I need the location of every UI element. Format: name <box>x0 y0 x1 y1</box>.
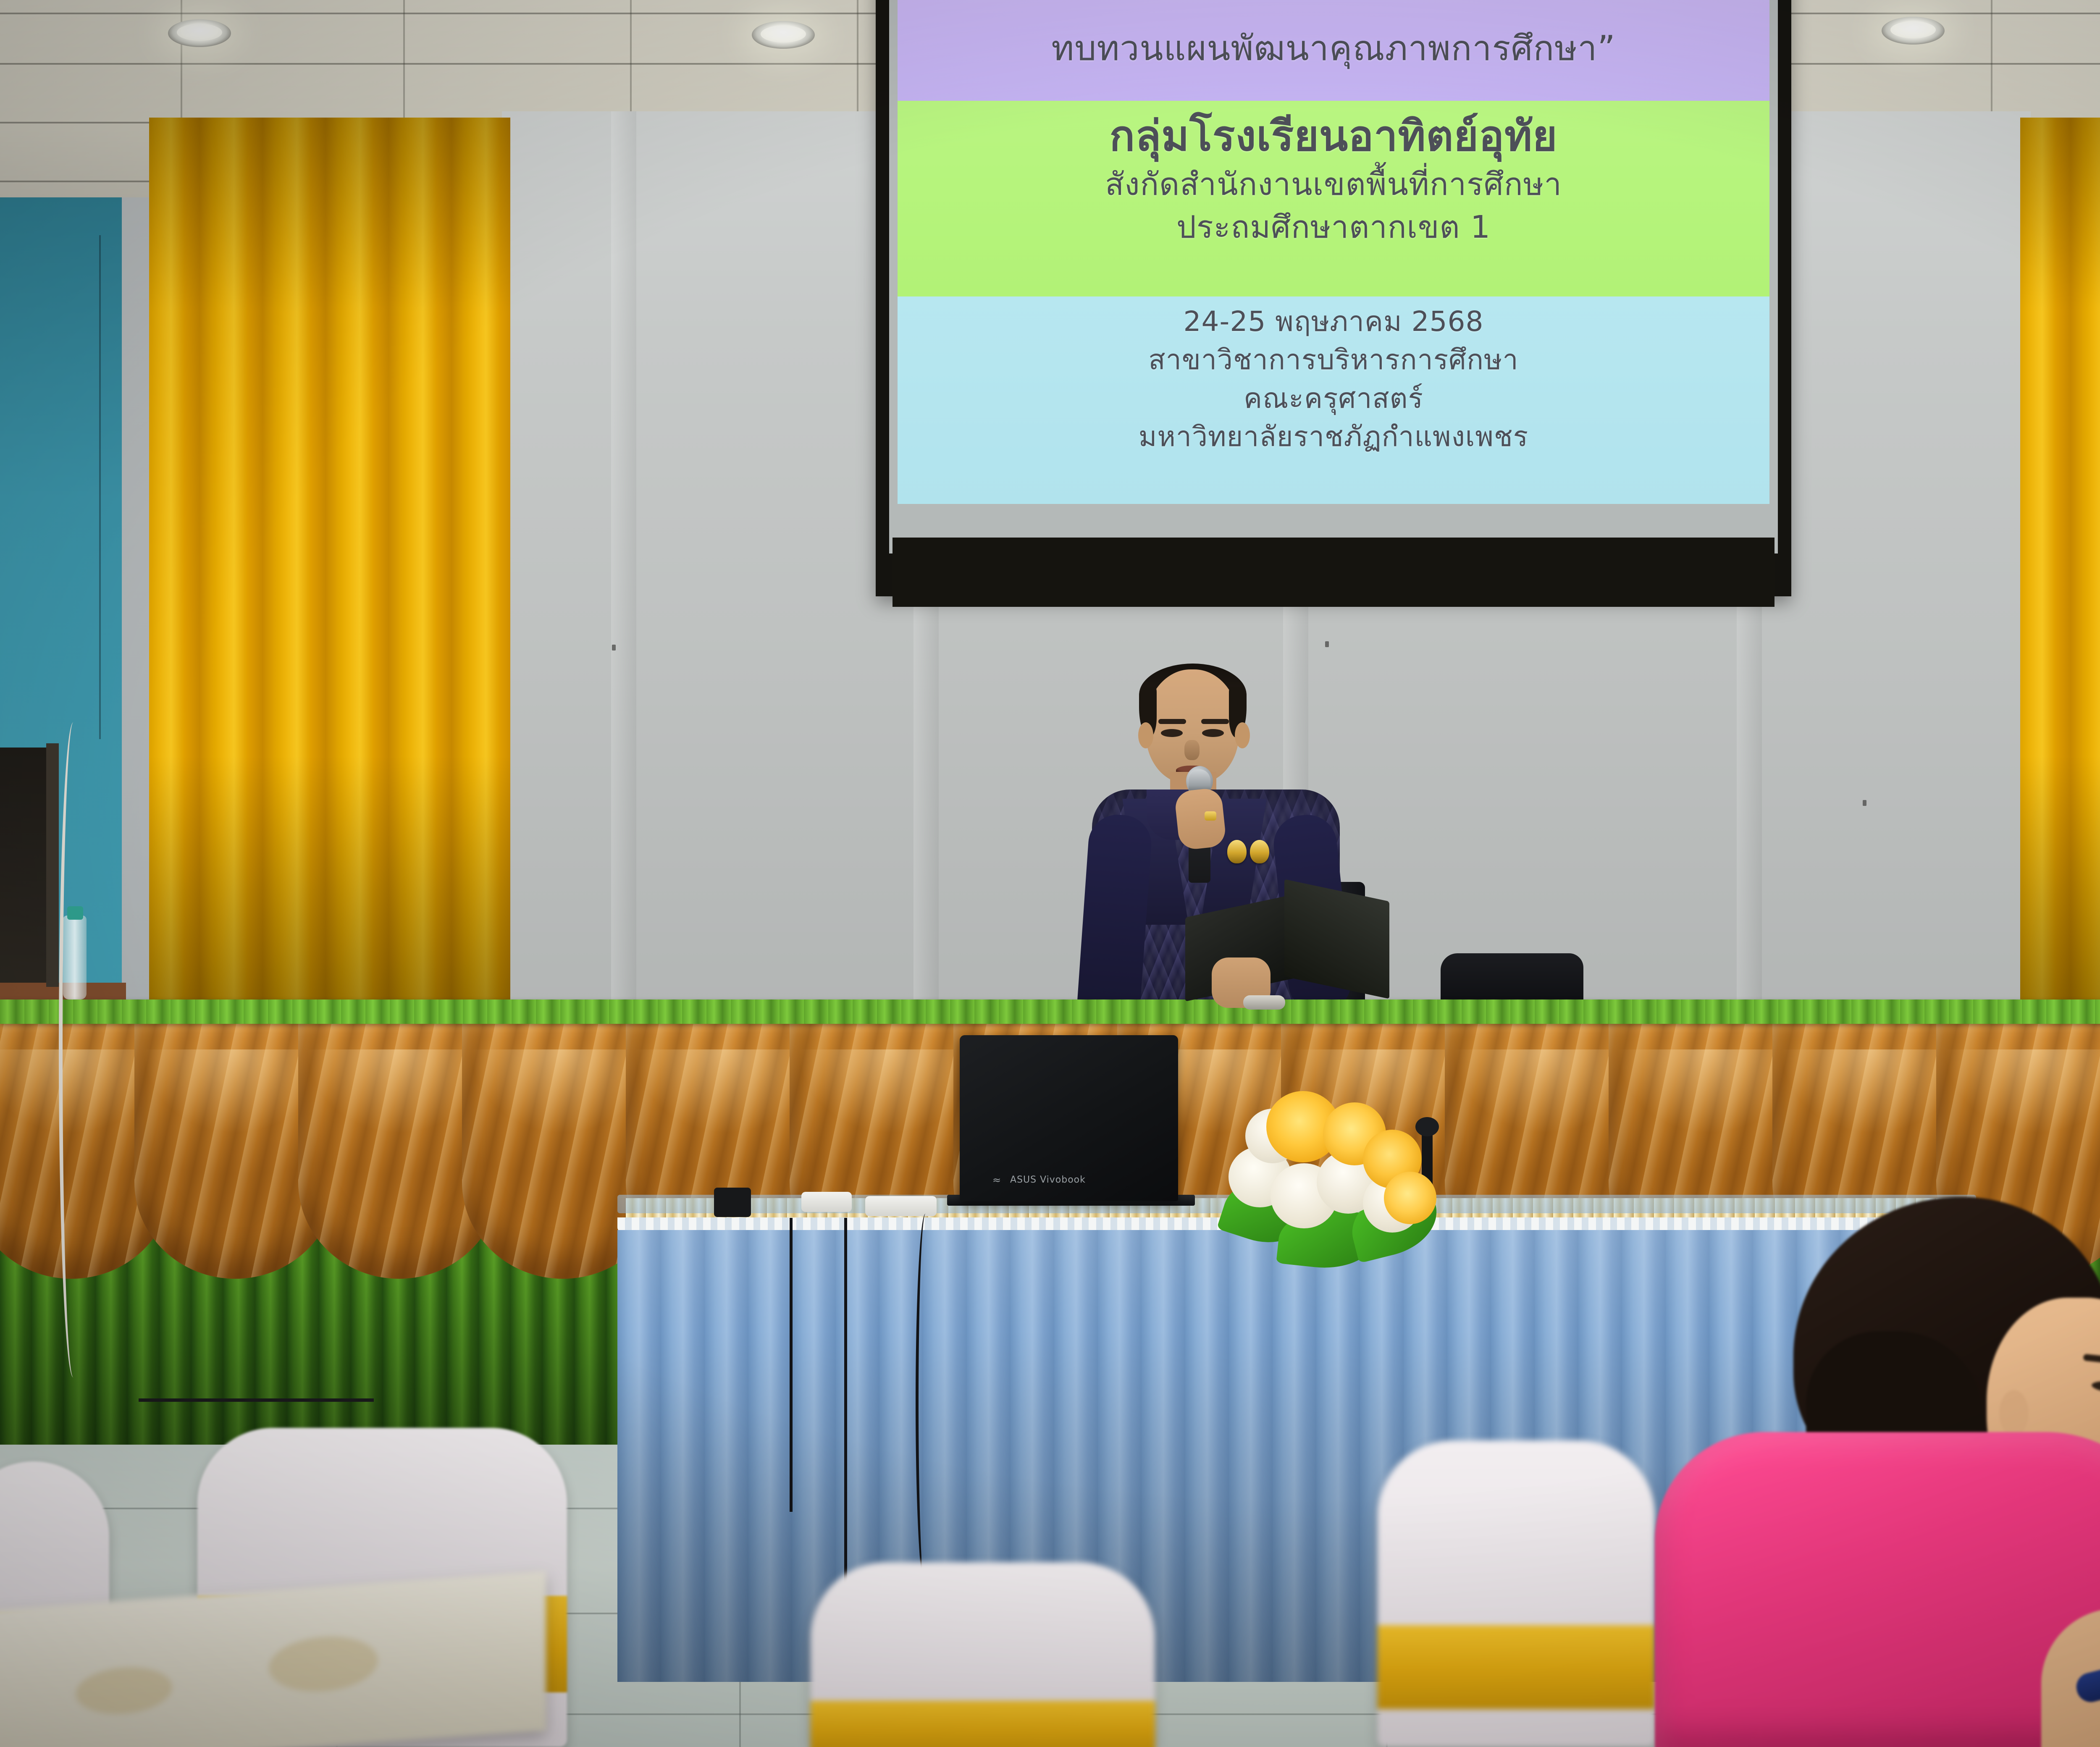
slide-line-4: สังกัดสำนักงานเขตพื้นที่การศึกษา <box>898 168 1769 202</box>
chair-sash <box>811 1701 1155 1747</box>
slide-band-green: กลุ่มโรงเรียนอาทิตย์อุทัย สังกัดสำนักงาน… <box>898 101 1769 296</box>
presentation-slide: “การประชุมเชิงปฏิบัติการ ทบทวนแผนพัฒนาคุ… <box>898 0 1769 504</box>
chair-cover <box>811 1562 1155 1747</box>
lapel-pin-icon <box>1250 840 1269 863</box>
power-adapter-white <box>801 1192 852 1212</box>
presenter-eyebrow-right <box>1201 719 1229 724</box>
slide-band-lavender: “การประชุมเชิงปฏิบัติการ ทบทวนแผนพัฒนาคุ… <box>898 0 1769 101</box>
projection-screen: “การประชุมเชิงปฏิบัติการ ทบทวนแผนพัฒนาคุ… <box>876 0 1791 596</box>
attendee-ear <box>1999 1390 2029 1436</box>
slide-line-7: สาขาวิชาการบริหารการศึกษา <box>898 345 1769 375</box>
laptop[interactable]: ≈ ASUS Vivobook <box>960 1035 1178 1201</box>
attendee-in-pink <box>1630 1172 2100 1747</box>
flower-arrangement <box>1216 1083 1438 1260</box>
chair-cover <box>1378 1440 1655 1747</box>
wristwatch <box>1243 995 1285 1010</box>
ceiling-downlight <box>168 19 231 47</box>
cable <box>59 722 88 1377</box>
attendee-pink-shirt <box>1655 1432 2100 1747</box>
scene-root: “การประชุมเชิงปฏิบัติการ ทบทวนแผนพัฒนาคุ… <box>0 0 2100 1747</box>
slide-line-5: ประถมศึกษาตากเขต 1 <box>898 211 1769 244</box>
slide-line-8: คณะครุศาสตร์ <box>898 383 1769 413</box>
power-adapter-white <box>865 1196 937 1216</box>
screen-bottom-bar <box>892 538 1774 607</box>
yellow-chrysanthemum <box>1384 1172 1436 1224</box>
presenter-eye-left <box>1161 729 1183 737</box>
slide-band-cyan: 24-25 พฤษภาคม 2568 สาขาวิชาการบริหารการศ… <box>898 296 1769 504</box>
stage-edge-trim <box>0 999 2100 1024</box>
chair-sash <box>1378 1625 1655 1709</box>
ceiling-downlight <box>1882 17 1945 45</box>
stage-curtain-left <box>149 118 510 1004</box>
wall-crack <box>99 235 101 739</box>
stage-curtain-right <box>2020 118 2100 1004</box>
doorway-left <box>0 748 50 983</box>
presenter-hand-holding-mic <box>1174 787 1227 851</box>
slide-line-3: กลุ่มโรงเรียนอาทิตย์อุทัย <box>898 113 1769 159</box>
lapel-pin-icon <box>1227 840 1247 863</box>
slide-line-9: มหาวิทยาลัยราชภัฏกำแพงเพชร <box>898 422 1769 451</box>
presenter-eyebrow-left <box>1158 719 1186 724</box>
door-jamb-left <box>46 743 59 987</box>
slide-line-6: 24-25 พฤษภาคม 2568 <box>898 307 1769 336</box>
presenter-ear-left <box>1138 722 1153 748</box>
presenter-ear-right <box>1235 722 1250 748</box>
gold-ring <box>1205 811 1216 821</box>
power-adapter-black <box>714 1188 751 1217</box>
ceiling-downlight <box>752 21 815 49</box>
asus-logo-icon: ≈ <box>992 1174 1001 1186</box>
laptop-brand-label: ASUS Vivobook <box>1010 1175 1086 1185</box>
presenter-nose <box>1184 740 1200 760</box>
presenter-eye-right <box>1202 729 1224 737</box>
slide-line-2: ทบทวนแผนพัฒนาคุณภาพการศึกษา” <box>898 30 1769 68</box>
cable <box>916 1214 935 1592</box>
